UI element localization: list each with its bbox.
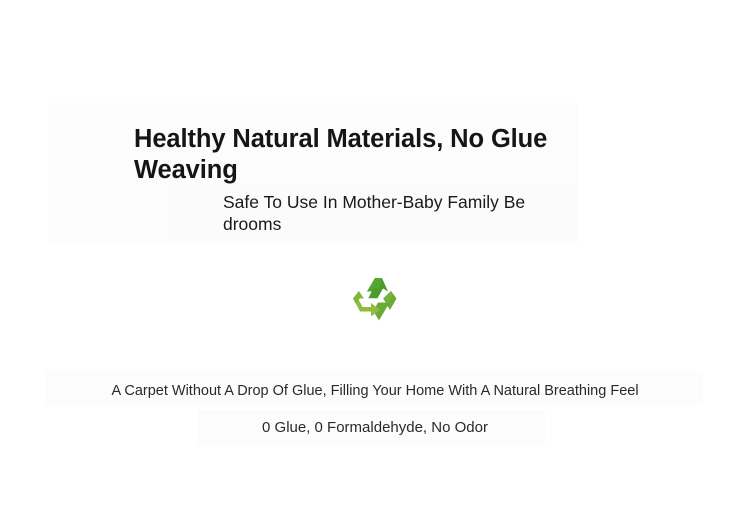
claim: 0 Glue, 0 Formaldehyde, No Odor — [0, 418, 750, 438]
headline-block: Healthy Natural Materials, No Glue Weavi… — [134, 124, 604, 187]
recycle-icon — [349, 276, 401, 323]
tagline: A Carpet Without A Drop Of Glue, Filling… — [0, 382, 750, 401]
subheadline: Safe To Use In Mother-Baby Family Bedroo… — [223, 191, 529, 236]
headline: Healthy Natural Materials, No Glue Weavi… — [134, 124, 604, 187]
promo-banner: Healthy Natural Materials, No Glue Weavi… — [0, 0, 750, 509]
